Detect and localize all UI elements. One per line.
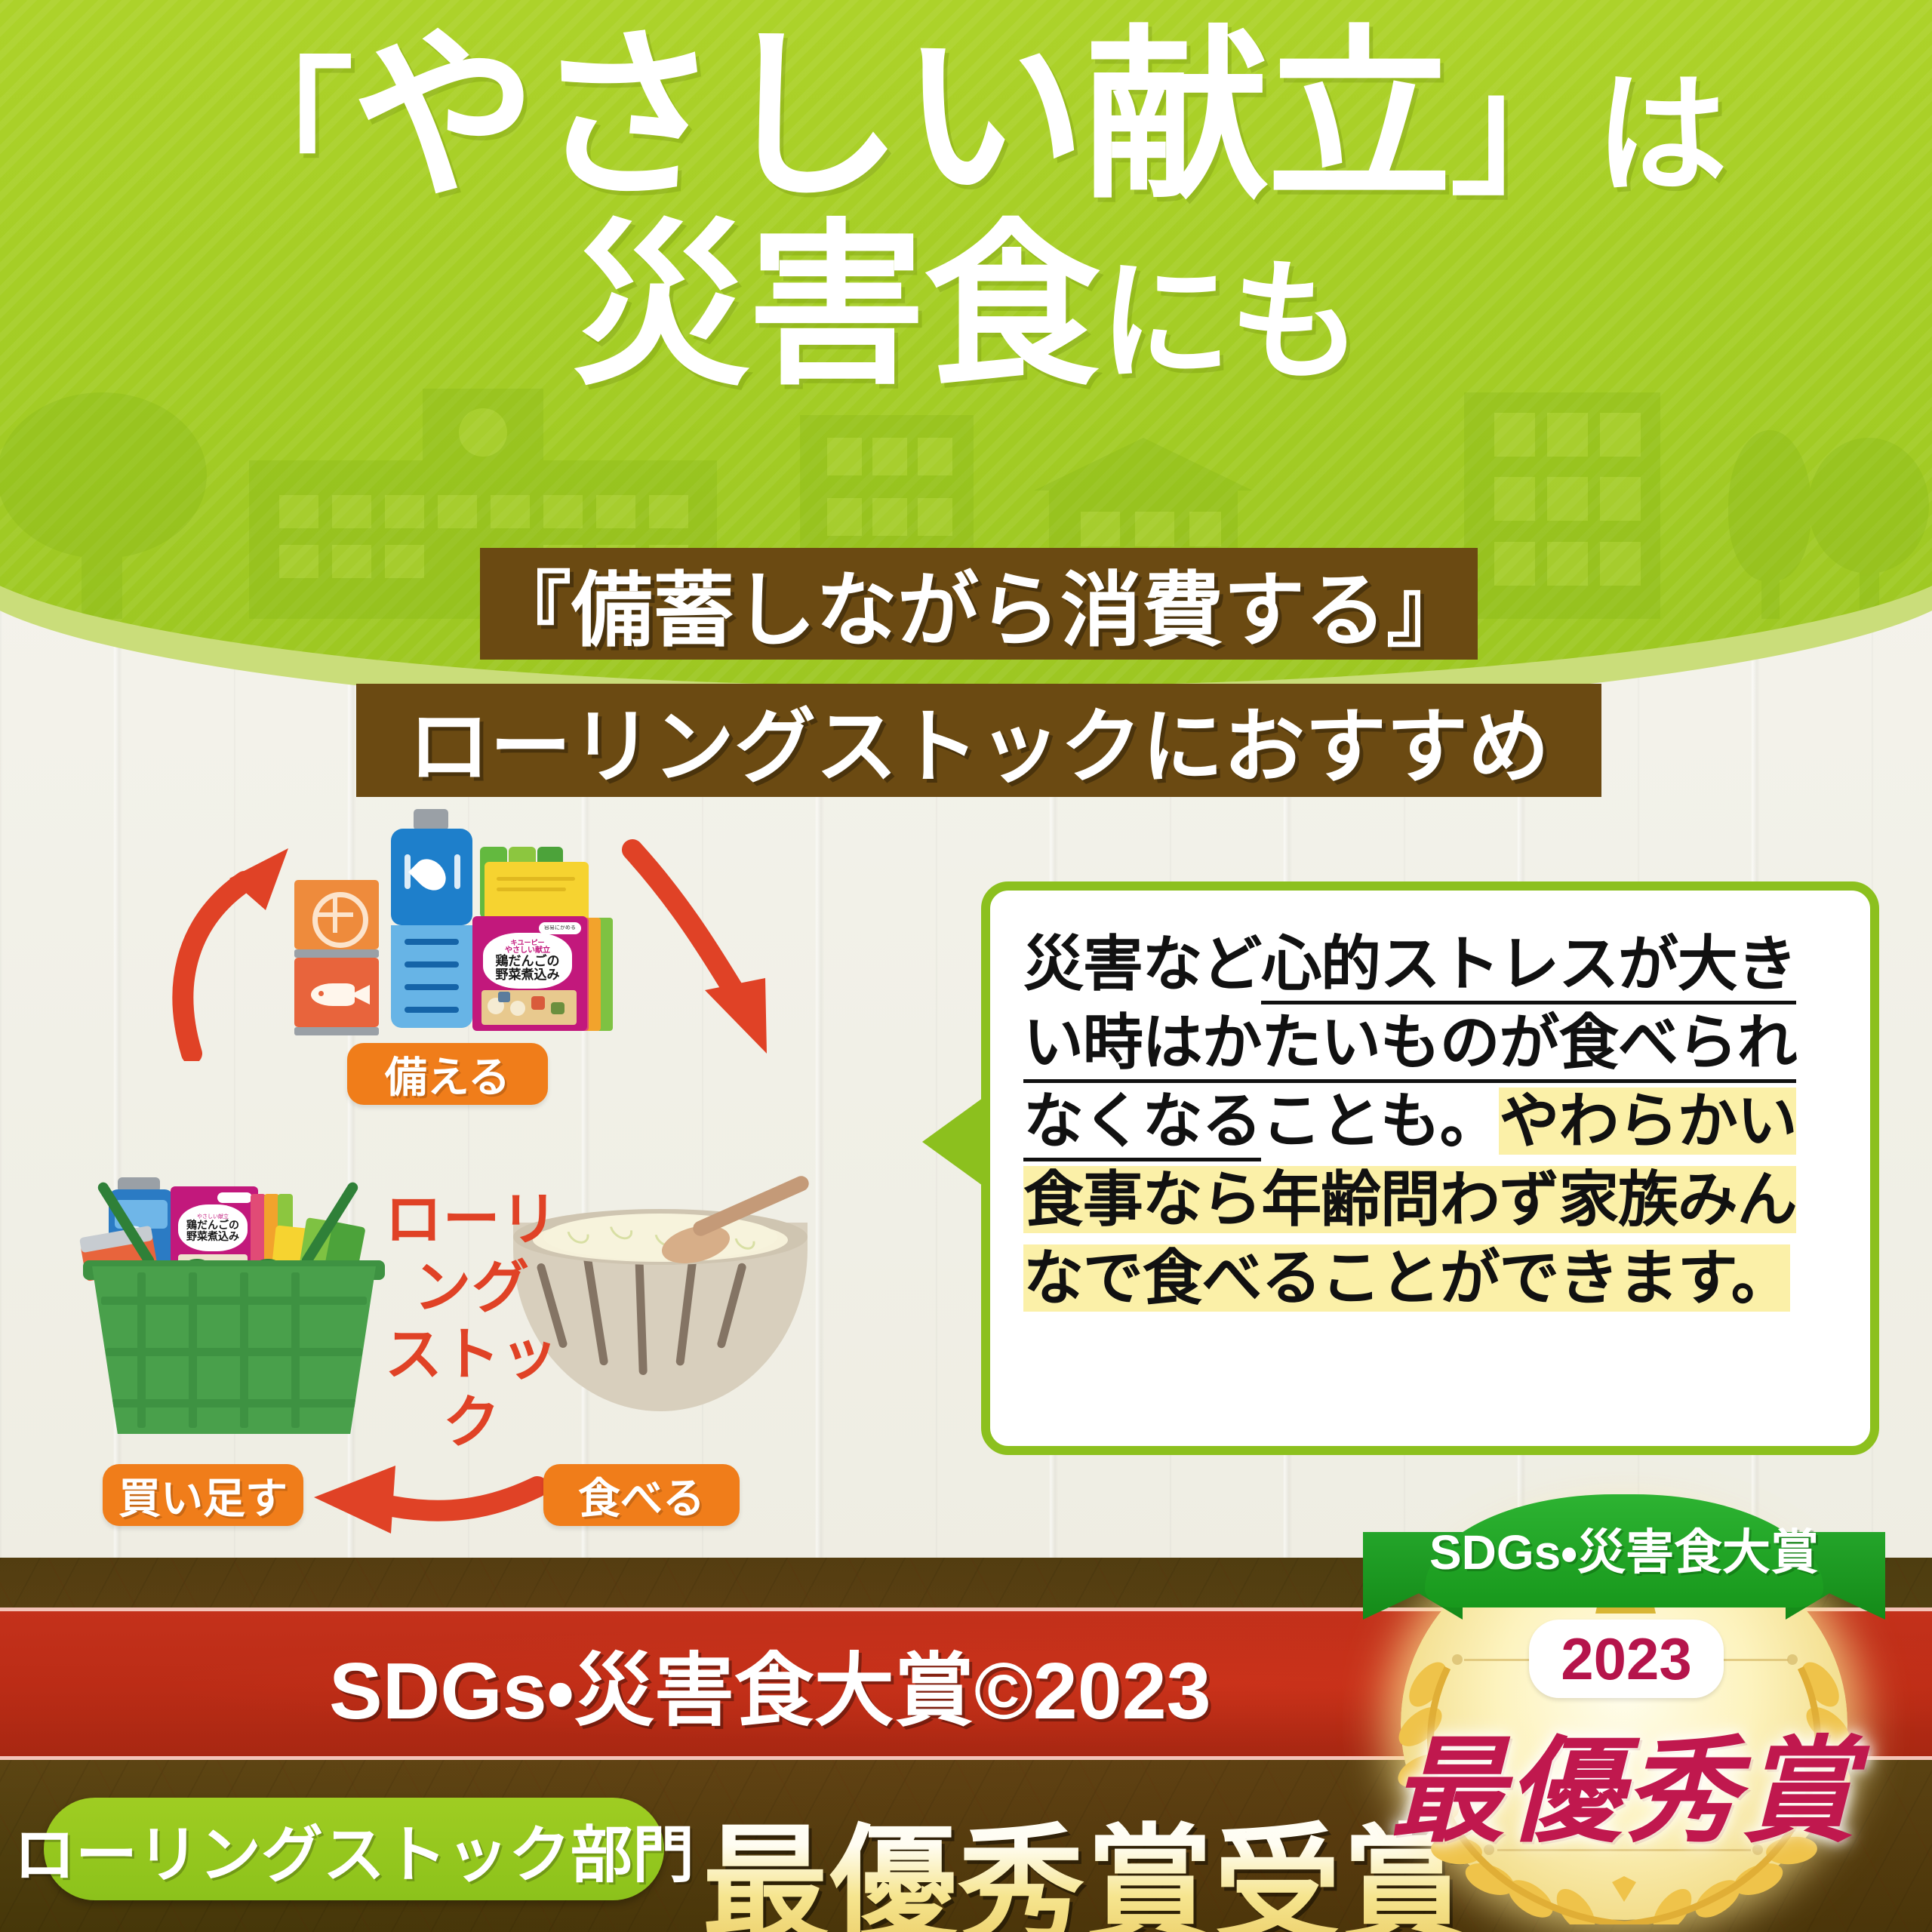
title-line-2: 災害食にも bbox=[0, 216, 1932, 397]
seal-ribbon: SDGs・災害食大賞 bbox=[1355, 1494, 1893, 1620]
bubble-line-5: なで食べることができます。 bbox=[1023, 1239, 1840, 1318]
stockpile-illustration: 容易にかめる キユーピー やさしい献立 鶏だんごの 野菜煮込み bbox=[294, 808, 611, 1041]
cycle-step-kaitasu[interactable]: 買い足す bbox=[103, 1464, 303, 1526]
bubble-line2-underlined: い時はかたいものが食べられ bbox=[1023, 1009, 1796, 1083]
award-ribbon-title: SDGs・災害食大賞©2023 bbox=[329, 1626, 1211, 1742]
arrow-up-to-stockpile bbox=[139, 835, 305, 1061]
fish-can-icon bbox=[294, 958, 379, 1027]
cycle-step-taberu[interactable]: 食べる bbox=[543, 1464, 740, 1526]
tree-icon bbox=[0, 392, 219, 619]
title-open-bracket: 「 bbox=[207, 48, 352, 212]
bottle-cap-icon bbox=[414, 809, 448, 830]
arrow-down-to-bowl bbox=[605, 835, 794, 1061]
cycle-step-sonaeru[interactable]: 備える bbox=[347, 1043, 548, 1105]
seal-year-badge: 2023 bbox=[1529, 1620, 1724, 1698]
infographic-page: 「やさしい献立」は 災害食にも 『備蓄しながら消費する』 ローリングストックにお… bbox=[0, 0, 1932, 1932]
product-name-1: 鶏だんごの bbox=[496, 955, 560, 968]
bubble-line5-highlighted: なで食べることができます。 bbox=[1023, 1244, 1790, 1312]
title-particle-nimo: にも bbox=[1099, 249, 1359, 396]
bubble-line4-highlighted: 食事なら年齢問わず家族みん bbox=[1023, 1166, 1796, 1233]
cycle-center-label-line2: ストック bbox=[358, 1321, 585, 1457]
fruit-can-icon bbox=[294, 880, 379, 949]
title-disaster-food: 災害食 bbox=[572, 207, 1099, 405]
bubble-line-2: い時はかたいものが食べられ bbox=[1023, 1004, 1840, 1082]
product-tag-label: 容易にかめる bbox=[542, 925, 578, 931]
title-close-bracket: 」 bbox=[1450, 48, 1595, 212]
award-category-pill: ローリングストック部門 bbox=[44, 1798, 664, 1900]
page-title: 「やさしい献立」は 災害食にも bbox=[0, 23, 1932, 397]
house-roof bbox=[1034, 438, 1253, 491]
bubble-line3-plain: ことも。 bbox=[1261, 1088, 1499, 1155]
bubble-line-3: なくなることも。やわらかい bbox=[1023, 1082, 1840, 1161]
speech-bubble-pointer bbox=[922, 1098, 983, 1186]
cycle-center-label-line1: ローリング bbox=[358, 1186, 585, 1321]
seal-main-text: 最優秀賞 bbox=[1380, 1698, 1869, 1864]
bubble-line1-plain: 災害など bbox=[1023, 931, 1261, 998]
rolling-stock-cycle-diagram: 容易にかめる キユーピー やさしい献立 鶏だんごの 野菜煮込み bbox=[45, 800, 943, 1555]
product-pouch: 容易にかめる キユーピー やさしい献立 鶏だんごの 野菜煮込み bbox=[472, 916, 587, 1031]
speech-bubble: 災害など心的ストレスが大き い時はかたいものが食べられ なくなることも。やわらか… bbox=[981, 881, 1879, 1455]
bubble-line3-highlighted: やわらかい bbox=[1499, 1088, 1796, 1155]
bubble-line1-underlined: 心的ストレスが大き bbox=[1261, 931, 1796, 1004]
product-tag: 容易にかめる bbox=[539, 922, 581, 934]
title-line-1: 「やさしい献立」は bbox=[0, 23, 1932, 211]
bubble-line-1: 災害など心的ストレスが大き bbox=[1023, 925, 1840, 1004]
subtitle-banner-stockpile: 『備蓄しながら消費する』 bbox=[480, 548, 1478, 660]
cycle-center-label: ローリング ストック bbox=[358, 1186, 585, 1457]
bubble-line-4: 食事なら年齢問わず家族みん bbox=[1023, 1161, 1840, 1239]
subtitle-banner-rolling-stock: ローリングストックにおすすめ bbox=[356, 684, 1601, 797]
water-drop-icon bbox=[408, 853, 452, 897]
tree-icon bbox=[1796, 430, 1932, 619]
title-particle-wa: は bbox=[1595, 62, 1726, 209]
water-bottle-icon bbox=[391, 829, 472, 925]
bubble-line3-underlined: なくなる bbox=[1023, 1088, 1261, 1161]
water-bottle-lower bbox=[391, 925, 472, 1028]
product-name-bubble: キユーピー やさしい献立 鶏だんごの 野菜煮込み bbox=[483, 933, 572, 989]
basket-product-name-1: 鶏だんごの bbox=[186, 1220, 239, 1230]
basket-product-name-2: 野菜煮込み bbox=[186, 1231, 239, 1241]
title-product-name: やさしい献立 bbox=[352, 13, 1450, 220]
seal-ribbon-text: SDGs・災害食大賞 bbox=[1355, 1514, 1893, 1583]
product-food-photo bbox=[481, 990, 577, 1025]
shopping-basket-illustration: やさしい献立 鶏だんごの 野菜煮込み bbox=[75, 1155, 392, 1449]
award-seal: 2023 最優秀賞 SDGs・災害食大賞 bbox=[1337, 1472, 1911, 1924]
product-name-2: 野菜煮込み bbox=[496, 968, 560, 982]
basket-body bbox=[92, 1266, 376, 1434]
